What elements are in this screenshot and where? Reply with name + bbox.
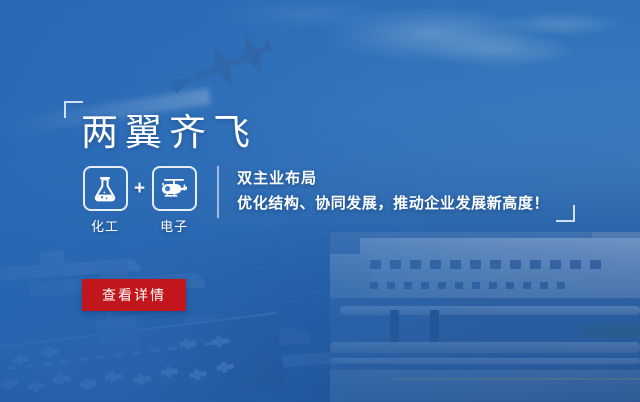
hero-banner: 两翼齐飞 — [0, 0, 640, 402]
corner-bracket-bottom-right — [556, 205, 575, 222]
helicopter-icon — [159, 176, 189, 202]
banner-content: 两翼齐飞 — [0, 0, 640, 402]
industry-label-chemical: 化工 — [91, 216, 119, 235]
plus-separator: + — [134, 166, 145, 211]
feature-row: 化工 + — [81, 166, 549, 235]
industry-label-electronics: 电子 — [160, 216, 188, 235]
tagline-group: 双主业布局 优化结构、协同发展，推动企业发展新高度！ — [237, 166, 549, 216]
flask-icon-box — [83, 166, 128, 211]
vertical-divider — [217, 166, 219, 218]
tagline-secondary: 优化结构、协同发展，推动企业发展新高度！ — [237, 191, 549, 216]
view-details-button[interactable]: 查看详情 — [82, 279, 186, 311]
industry-item-chemical[interactable]: 化工 — [81, 166, 129, 235]
tagline-primary: 双主业布局 — [237, 167, 549, 191]
helicopter-icon-box — [152, 166, 197, 211]
industry-icon-set: 化工 + — [81, 166, 198, 235]
flask-icon — [92, 175, 118, 203]
industry-item-electronics[interactable]: 电子 — [150, 166, 198, 235]
page-title: 两翼齐飞 — [81, 112, 257, 154]
